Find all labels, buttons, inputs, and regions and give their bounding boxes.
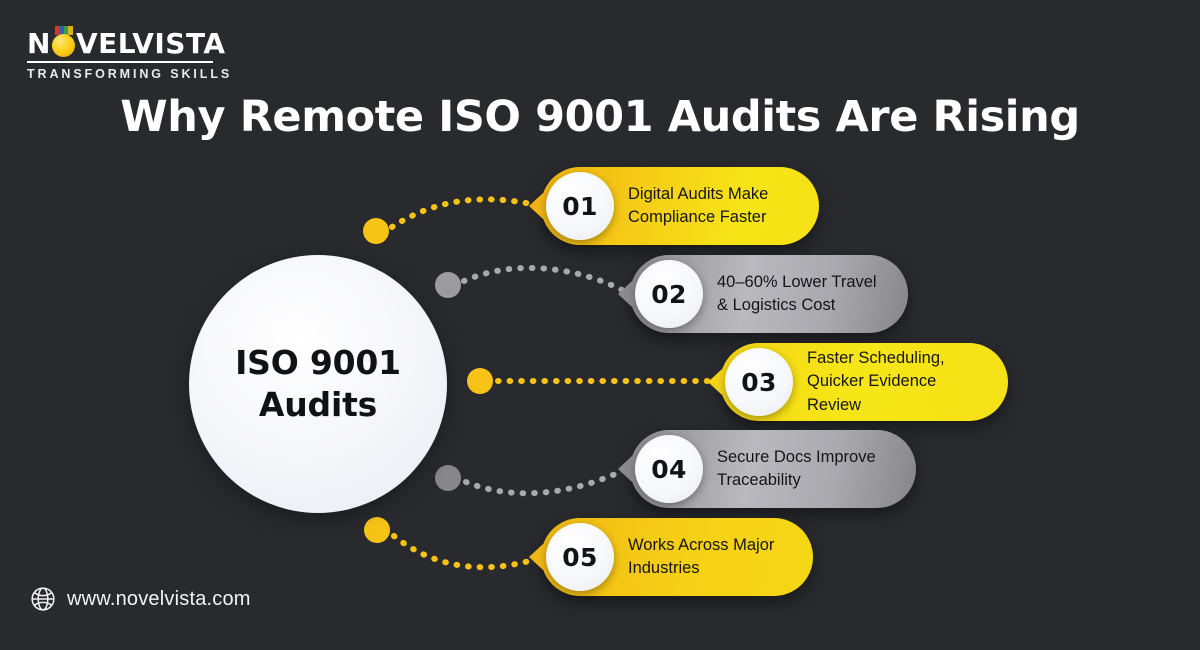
list-item[interactable]: 02 40–60% Lower Travel & Logistics Cost — [630, 255, 908, 333]
item-label: Digital Audits Make Compliance Faster — [614, 183, 794, 230]
connector-dot-3 — [467, 368, 493, 394]
item-number-badge: 02 — [635, 260, 703, 328]
medal-icon — [50, 31, 77, 58]
item-label: Faster Scheduling, Quicker Evidence Revi… — [793, 347, 1008, 417]
logo-wordmark: N VELVISTA — [27, 30, 217, 58]
item-number-badge: 03 — [725, 348, 793, 416]
pill-tail-icon — [529, 193, 543, 219]
connector-dot-2 — [435, 272, 461, 298]
item-label: 40–60% Lower Travel & Logistics Cost — [703, 271, 903, 318]
logo-word-after: VELVISTA — [76, 27, 226, 60]
item-pill-05[interactable]: 05 Works Across Major Industries — [541, 518, 813, 596]
item-number-badge: 04 — [635, 435, 703, 503]
footer: www.novelvista.com — [30, 586, 251, 612]
item-number-badge: 05 — [546, 523, 614, 591]
item-pill-01[interactable]: 01 Digital Audits Make Compliance Faster — [541, 167, 819, 245]
connector-path-5 — [394, 536, 536, 567]
list-item[interactable]: 04 Secure Docs Improve Traceability — [630, 430, 916, 508]
list-item[interactable]: 03 Faster Scheduling, Quicker Evidence R… — [720, 343, 1008, 421]
item-label: Works Across Major Industries — [614, 534, 800, 581]
pill-tail-icon — [708, 369, 722, 395]
pill-tail-icon — [618, 281, 632, 307]
item-pill-02[interactable]: 02 40–60% Lower Travel & Logistics Cost — [630, 255, 908, 333]
medal-disc — [52, 34, 75, 57]
list-item[interactable]: 01 Digital Audits Make Compliance Faster — [541, 167, 819, 245]
hub-title-line-1: ISO 9001 — [235, 342, 401, 384]
connector-path-4 — [466, 470, 624, 493]
logo-word-before: N — [27, 27, 51, 60]
item-label: Secure Docs Improve Traceability — [703, 446, 902, 493]
pill-tail-icon — [529, 544, 543, 570]
item-pill-03[interactable]: 03 Faster Scheduling, Quicker Evidence R… — [720, 343, 1008, 421]
list-item[interactable]: 05 Works Across Major Industries — [541, 518, 813, 596]
page-title: Why Remote ISO 9001 Audits Are Rising — [0, 92, 1200, 142]
central-hub: ISO 9001 Audits — [189, 255, 447, 513]
pill-tail-icon — [618, 456, 632, 482]
connector-dot-4 — [435, 465, 461, 491]
infographic-canvas: N VELVISTA TRANSFORMING SKILLS Why Remot… — [0, 0, 1200, 650]
brand-logo: N VELVISTA TRANSFORMING SKILLS — [27, 30, 217, 81]
globe-icon — [30, 586, 56, 612]
connector-path-1 — [392, 199, 536, 227]
hub-title-line-2: Audits — [259, 384, 377, 426]
website-url: www.novelvista.com — [67, 588, 251, 611]
logo-tagline: TRANSFORMING SKILLS — [27, 67, 217, 81]
connector-dot-5 — [364, 517, 390, 543]
connector-path-2 — [464, 268, 624, 291]
logo-divider — [27, 61, 213, 63]
connector-dot-1 — [363, 218, 389, 244]
item-pill-04[interactable]: 04 Secure Docs Improve Traceability — [630, 430, 916, 508]
item-number-badge: 01 — [546, 172, 614, 240]
